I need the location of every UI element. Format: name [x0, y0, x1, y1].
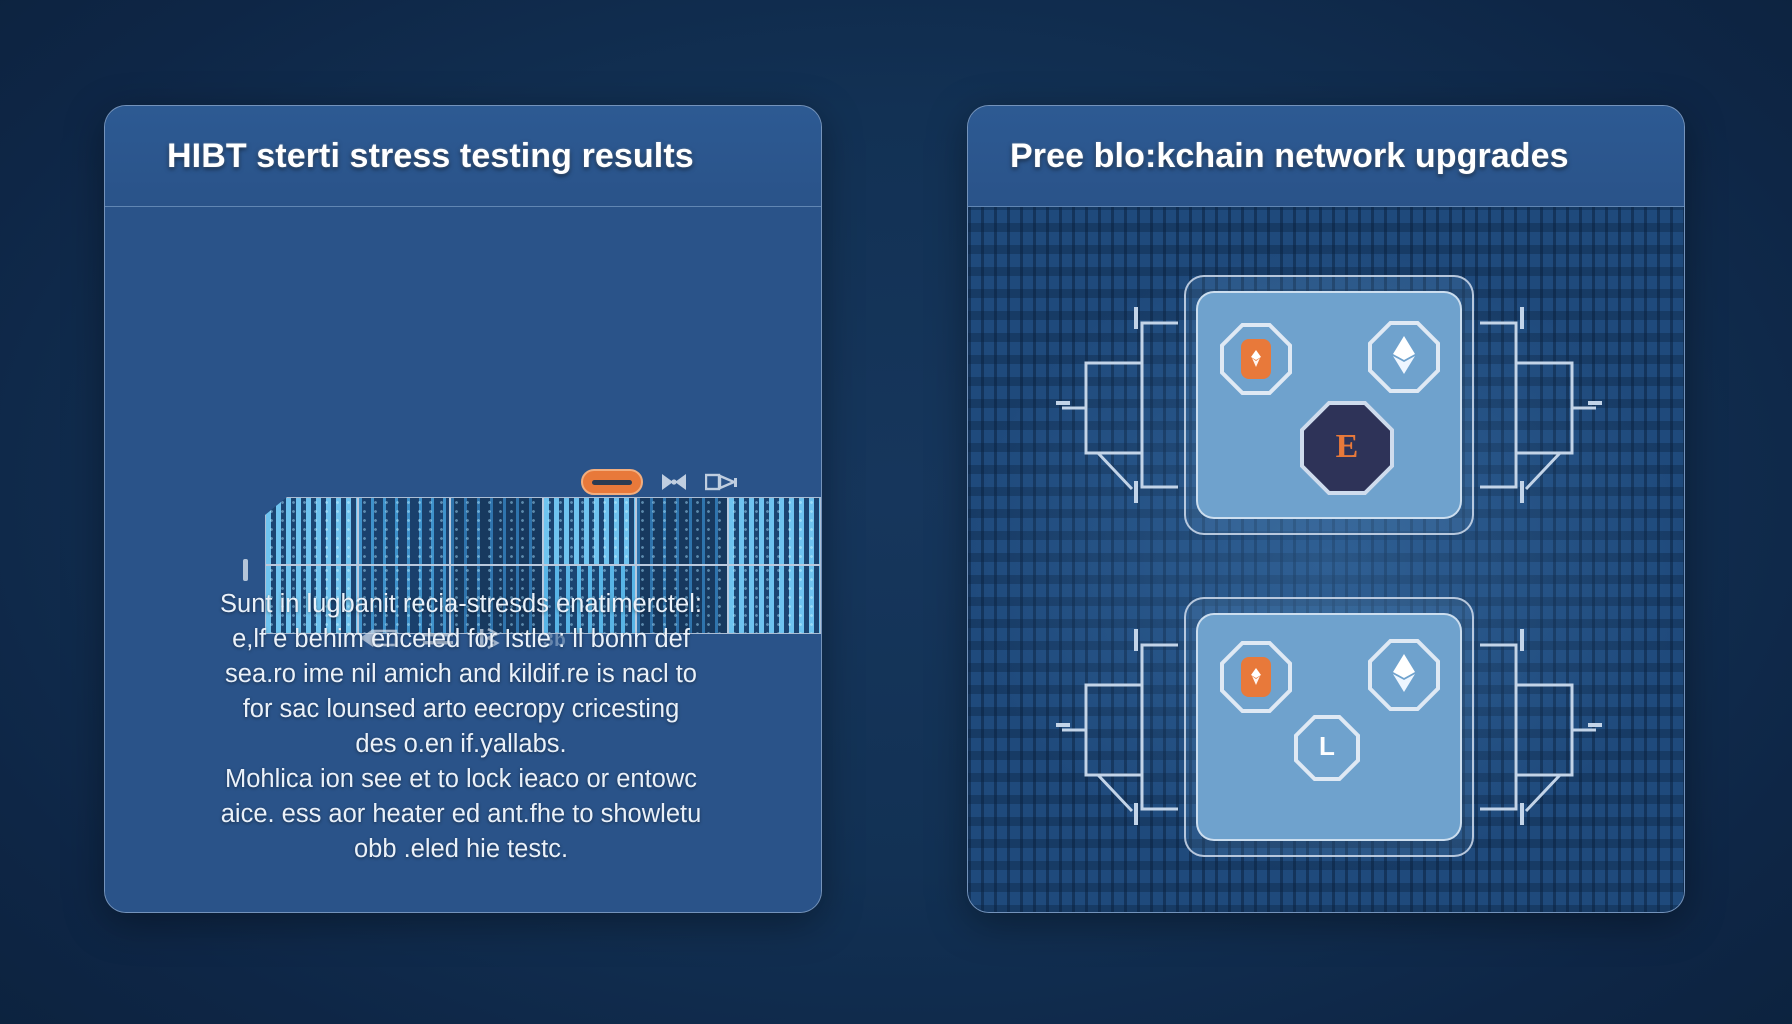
description-line: Sunt in lugbanit recia-stresds enatimerc…	[145, 587, 777, 622]
ethereum-e-icon: E	[1330, 424, 1364, 473]
heatmap-legend	[581, 469, 735, 495]
description-line: obb .eled hie testc.	[145, 832, 777, 867]
node-litecoin[interactable]: L	[1294, 715, 1360, 781]
dashboard-page: HIBT sterti stress testing results	[0, 0, 1792, 1024]
description-line: e,lf e behim enceled for Istle : ll bonn…	[145, 622, 777, 657]
svg-text:L: L	[1319, 731, 1335, 761]
heatmap-axis-tick	[243, 559, 248, 581]
legend-scale-pill[interactable]	[581, 469, 643, 495]
left-card-title: HIBT sterti stress testing results	[167, 137, 694, 176]
right-card-body: E	[968, 207, 1684, 913]
heatmap-cell	[359, 498, 450, 566]
cluster-rail-right	[1480, 303, 1612, 507]
right-card-title: Pree blo:kchain network upgrades	[1010, 137, 1569, 176]
right-card-header: Pree blo:kchain network upgrades	[968, 106, 1684, 207]
heatmap-cell	[637, 498, 728, 566]
stress-testing-card: HIBT sterti stress testing results	[104, 105, 822, 913]
description-line: aice. ess aor heater ed ant.fhe to showl…	[145, 797, 777, 832]
description-line: sea.ro ime nil amich and kildif.re is na…	[145, 657, 777, 692]
description-line: for sac lounsed arto eecropy cricesting	[145, 692, 777, 727]
heatmap-cell	[729, 498, 820, 566]
cluster-rail-left	[1046, 303, 1178, 507]
stress-description: Sunt in lugbanit recia-stresds enatimerc…	[145, 587, 777, 867]
bitcoin-badge-icon	[1241, 657, 1271, 697]
node-lightning[interactable]	[1368, 639, 1440, 711]
node-ethereum[interactable]: E	[1304, 405, 1390, 491]
description-line: des o.en if.yallabs.	[145, 727, 777, 762]
cluster-panel: L	[1196, 613, 1462, 841]
bitcoin-badge-icon	[1241, 339, 1271, 379]
node-bitcoin[interactable]	[1220, 323, 1292, 395]
left-card-header: HIBT sterti stress testing results	[105, 106, 821, 207]
lightning-bolt-icon	[1391, 653, 1417, 698]
left-card-body: 3b Sunt in lugbanit recia-stresds enatim…	[105, 207, 821, 913]
node-bitcoin[interactable]	[1220, 641, 1292, 713]
svg-text:E: E	[1336, 428, 1359, 465]
network-upgrades-card: Pree blo:kchain network upgrades	[967, 105, 1685, 913]
bowtie-icon	[659, 469, 689, 495]
heatmap-cell	[451, 498, 542, 566]
upgrade-cluster-top[interactable]: E	[1024, 275, 1634, 535]
lightning-bolt-icon	[1391, 335, 1417, 380]
cluster-panel: E	[1196, 291, 1462, 519]
heatmap-cell	[544, 498, 635, 566]
heatmap-cell	[266, 498, 357, 566]
valve-icon	[705, 469, 735, 495]
node-lightning[interactable]	[1368, 321, 1440, 393]
description-line: Mohlica ion see et to lock ieaco or ento…	[145, 762, 777, 797]
litecoin-l-icon: L	[1313, 729, 1341, 768]
cluster-rail-left	[1046, 625, 1178, 829]
cluster-rail-right	[1480, 625, 1612, 829]
upgrade-cluster-bottom[interactable]: L	[1024, 597, 1634, 857]
